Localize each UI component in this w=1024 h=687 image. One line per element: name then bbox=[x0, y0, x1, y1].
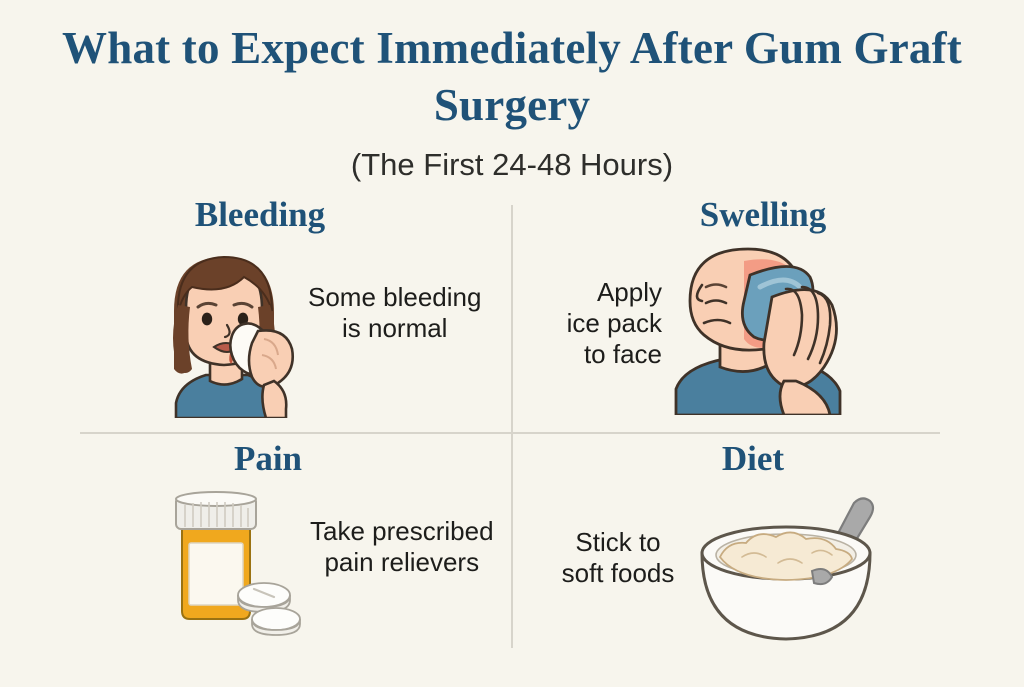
quadrant-title-swelling: Swelling bbox=[512, 193, 1024, 237]
quadrant-caption-pain: Take prescribed pain relievers bbox=[310, 516, 494, 578]
pill-bottle-illustration bbox=[162, 487, 302, 637]
quadrant-pain: Pain bbox=[0, 437, 512, 687]
infographic-poster: What to Expect Immediately After Gum Gra… bbox=[0, 0, 1024, 683]
quadrant-body-diet: Stick to soft foods bbox=[512, 487, 1024, 647]
quadrant-body-swelling: Apply ice pack to face bbox=[512, 243, 1024, 415]
quadrant-bleeding: Bleeding bbox=[0, 193, 512, 443]
quadrant-title-diet: Diet bbox=[512, 437, 1024, 481]
quadrant-title-pain: Pain bbox=[0, 437, 512, 481]
woman-with-gauze-illustration bbox=[148, 243, 298, 418]
quadrant-caption-diet: Stick to soft foods bbox=[550, 527, 686, 589]
bowl-of-soft-food-illustration bbox=[686, 487, 886, 647]
header: What to Expect Immediately After Gum Gra… bbox=[0, 20, 1024, 185]
quadrant-title-bleeding: Bleeding bbox=[0, 193, 512, 237]
quadrant-body-pain: Take prescribed pain relievers bbox=[0, 487, 512, 637]
quadrant-body-bleeding: Some bleeding is normal bbox=[0, 243, 512, 418]
page-subtitle: (The First 24-48 Hours) bbox=[0, 145, 1024, 185]
page-title: What to Expect Immediately After Gum Gra… bbox=[0, 20, 1024, 134]
quadrant-diet: Diet Stick to soft foods bbox=[512, 437, 1024, 687]
quadrant-caption-bleeding: Some bleeding is normal bbox=[308, 282, 481, 344]
person-with-ice-pack-illustration bbox=[668, 243, 878, 415]
quadrant-caption-swelling: Apply ice pack to face bbox=[542, 277, 662, 370]
quadrant-swelling: Swelling Apply ice pack to face bbox=[512, 193, 1024, 443]
